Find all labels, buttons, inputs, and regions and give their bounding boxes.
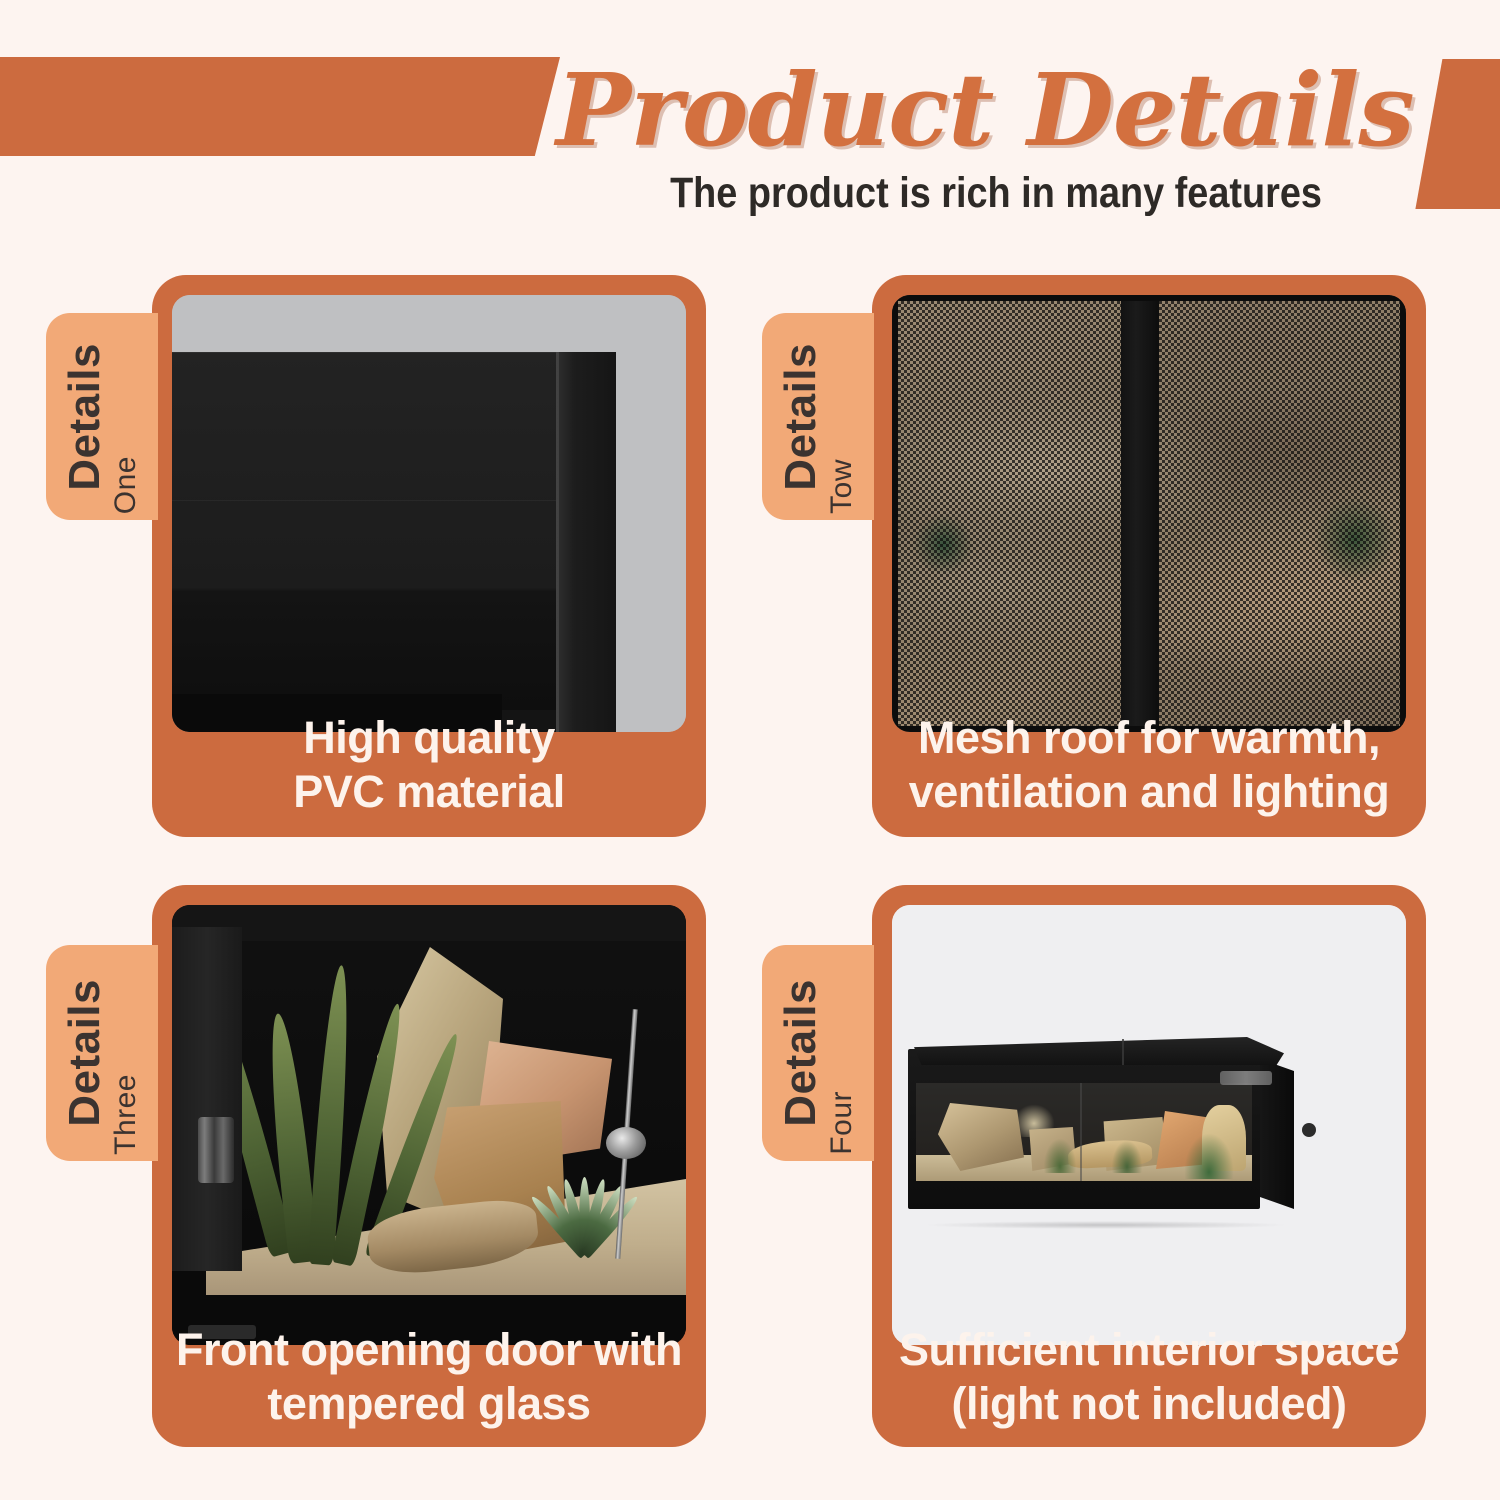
detail-tab-four-inner: Details Four: [762, 945, 874, 1161]
detail-card-three-photo: [172, 905, 686, 1345]
detail-tab-three-inner: Details Three: [46, 945, 158, 1161]
terrarium-clamp: [606, 1127, 646, 1159]
detail-card-four-photo: [892, 905, 1406, 1345]
detail-tab-three-number: Three: [110, 1074, 142, 1155]
detail-tab-one-number: One: [110, 456, 142, 514]
product-terrarium-tank: [908, 1037, 1294, 1223]
detail-tab-two[interactable]: Details Tow: [762, 313, 874, 520]
product-tank-plant-2: [1112, 1141, 1142, 1173]
detail-card-four-caption: Sufficient interior space (light not inc…: [886, 1323, 1412, 1431]
page-header: Product Details The product is rich in m…: [0, 0, 1500, 250]
detail-card-two-caption: Mesh roof for warmth, ventilation and li…: [886, 711, 1412, 819]
detail-tab-two-label: Details: [778, 343, 824, 491]
detail-card-three-caption-line1: Front opening door with: [166, 1323, 692, 1377]
pvc-panel-seam-mid: [172, 500, 556, 501]
terrarium-glass-door: [172, 927, 242, 1271]
page-subtitle: The product is rich in many features: [609, 168, 1383, 218]
detail-tab-two-number: Tow: [826, 459, 858, 514]
detail-tab-four-number: Four: [826, 1091, 858, 1155]
product-tank-plant-3: [1184, 1133, 1234, 1179]
detail-tab-four-label: Details: [778, 979, 824, 1127]
product-tank-lid-divider: [1122, 1039, 1124, 1065]
detail-tab-two-inner: Details Tow: [762, 313, 874, 520]
terrarium-top-frame: [172, 905, 686, 941]
detail-card-two-caption-line1: Mesh roof for warmth,: [886, 711, 1412, 765]
detail-card-three-caption: Front opening door with tempered glass: [166, 1323, 692, 1431]
product-tank-glass-divider: [1080, 1083, 1082, 1181]
detail-card-one-photo: [172, 295, 686, 732]
detail-tab-one-label: Details: [62, 343, 108, 491]
detail-card-two-caption-line2: ventilation and lighting: [886, 765, 1412, 819]
detail-card-one-caption-line2: PVC material: [166, 765, 692, 819]
detail-card-four[interactable]: Sufficient interior space (light not inc…: [872, 885, 1426, 1447]
detail-tab-three[interactable]: Details Three: [46, 945, 158, 1161]
pvc-panel-edge: [556, 352, 616, 732]
product-tank-glass-front: [916, 1083, 1252, 1181]
mesh-roof-frame: [892, 295, 1406, 732]
product-tank-lid: [914, 1037, 1284, 1065]
detail-card-four-caption-line2: (light not included): [886, 1377, 1412, 1431]
header-bar-left-decoration: [0, 57, 560, 156]
detail-card-three[interactable]: Front opening door with tempered glass: [152, 885, 706, 1447]
pvc-panel-seam-top: [172, 352, 556, 353]
detail-card-four-caption-line1: Sufficient interior space: [886, 1323, 1412, 1377]
brand-logo-icon: [1220, 1071, 1272, 1085]
detail-card-three-caption-line2: tempered glass: [166, 1377, 692, 1431]
product-tank-plant-1: [1044, 1139, 1076, 1173]
detail-card-one-caption: High quality PVC material: [166, 711, 692, 819]
detail-card-one[interactable]: High quality PVC material: [152, 275, 706, 837]
product-tank-vent-icon: [1302, 1123, 1316, 1137]
product-drop-shadow: [928, 1221, 1284, 1229]
detail-card-one-caption-line1: High quality: [166, 711, 692, 765]
detail-tab-four[interactable]: Details Four: [762, 945, 874, 1161]
pvc-panel: [172, 352, 556, 732]
detail-card-two-photo: [892, 295, 1406, 732]
terrarium-door-handle: [198, 1117, 234, 1183]
detail-card-two[interactable]: Mesh roof for warmth, ventilation and li…: [872, 275, 1426, 837]
detail-tab-three-label: Details: [62, 979, 108, 1127]
pvc-panel-edge-highlight: [556, 352, 559, 732]
page-title: Product Details: [556, 55, 1436, 165]
detail-tab-one[interactable]: Details One: [46, 313, 158, 520]
detail-tab-one-inner: Details One: [46, 313, 158, 520]
